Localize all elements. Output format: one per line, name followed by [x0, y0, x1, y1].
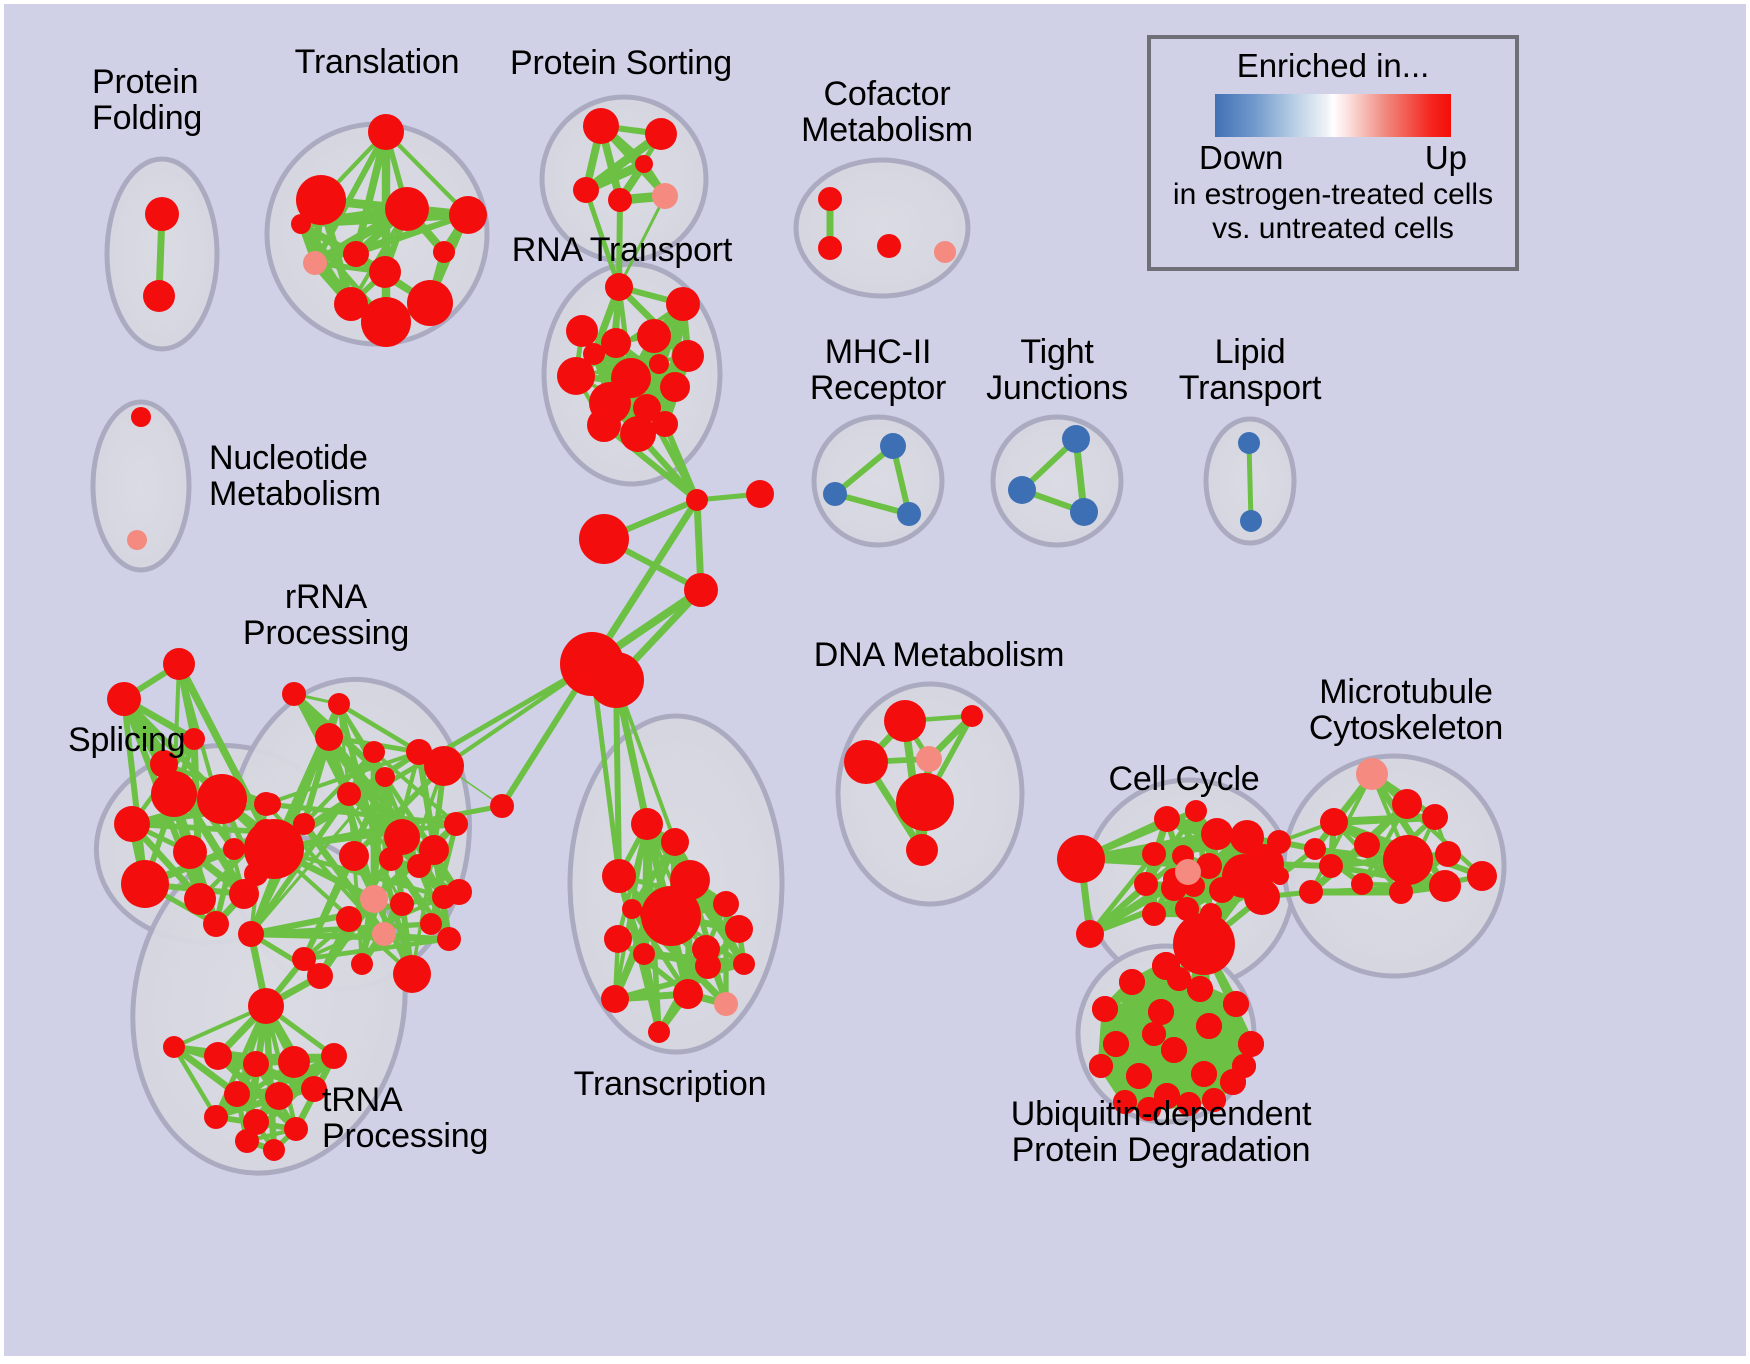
network-node[interactable]: [635, 155, 653, 173]
network-node[interactable]: [107, 682, 141, 716]
network-node[interactable]: [114, 806, 150, 842]
network-node[interactable]: [1103, 1031, 1129, 1057]
network-node[interactable]: [243, 1051, 269, 1077]
network-node[interactable]: [906, 834, 938, 866]
network-node[interactable]: [224, 1081, 250, 1107]
network-node[interactable]: [877, 234, 901, 258]
cluster-label-lipid-transport: Lipid Transport: [1179, 334, 1321, 406]
network-node[interactable]: [143, 280, 175, 312]
cluster-label-dna-metabolism: DNA Metabolism: [814, 637, 1064, 673]
network-node[interactable]: [1092, 996, 1118, 1022]
network-node[interactable]: [303, 251, 327, 275]
network-node[interactable]: [368, 114, 404, 150]
network-node[interactable]: [446, 879, 472, 905]
network-node[interactable]: [1223, 991, 1249, 1017]
legend-caption-line1: in estrogen-treated cells: [1173, 178, 1493, 212]
network-node[interactable]: [1057, 835, 1105, 883]
legend-low-label: Down: [1199, 139, 1283, 177]
network-node[interactable]: [673, 979, 703, 1009]
network-node[interactable]: [897, 502, 921, 526]
network-node[interactable]: [1320, 808, 1348, 836]
network-node[interactable]: [379, 847, 403, 871]
network-node[interactable]: [588, 652, 644, 708]
cluster-label-cell-cycle: Cell Cycle: [1108, 761, 1259, 797]
network-node[interactable]: [1175, 859, 1201, 885]
network-node[interactable]: [1354, 832, 1380, 858]
network-node[interactable]: [1238, 1031, 1264, 1057]
network-node[interactable]: [1319, 854, 1343, 878]
network-figure: Protein FoldingTranslationProtein Sortin…: [0, 0, 1750, 1360]
network-node[interactable]: [1422, 804, 1448, 830]
network-node[interactable]: [424, 746, 464, 786]
network-node[interactable]: [713, 891, 739, 917]
network-node[interactable]: [666, 287, 700, 321]
network-node[interactable]: [248, 988, 284, 1024]
network-node[interactable]: [151, 771, 197, 817]
network-node[interactable]: [645, 118, 677, 150]
network-node[interactable]: [1467, 861, 1497, 891]
network-node[interactable]: [844, 740, 888, 784]
legend-title: Enriched in...: [1237, 47, 1430, 85]
network-node[interactable]: [1161, 1037, 1187, 1063]
network-node[interactable]: [419, 835, 449, 865]
network-node[interactable]: [284, 1117, 308, 1141]
network-node[interactable]: [145, 197, 179, 231]
network-node[interactable]: [437, 927, 461, 951]
network-node[interactable]: [328, 693, 350, 715]
network-node[interactable]: [163, 1036, 185, 1058]
network-node[interactable]: [1356, 758, 1388, 790]
cluster-label-rna-transport: RNA Transport: [512, 232, 732, 268]
network-node[interactable]: [1196, 1013, 1222, 1039]
cluster-label-tight-junctions: Tight Junctions: [986, 334, 1128, 406]
network-node[interactable]: [725, 915, 753, 943]
network-node[interactable]: [880, 433, 906, 459]
cluster-label-protein-sorting: Protein Sorting: [510, 45, 732, 81]
network-node[interactable]: [1429, 870, 1461, 902]
legend-end-labels: Down Up: [1199, 139, 1467, 177]
network-node[interactable]: [608, 188, 632, 212]
network-node[interactable]: [278, 1046, 310, 1078]
network-node[interactable]: [204, 1042, 232, 1070]
network-node[interactable]: [746, 480, 774, 508]
network-node[interactable]: [1154, 806, 1180, 832]
network-node[interactable]: [363, 741, 385, 763]
network-node[interactable]: [420, 913, 442, 935]
network-node[interactable]: [263, 1139, 285, 1161]
network-node[interactable]: [1238, 432, 1260, 454]
network-node[interactable]: [1191, 1061, 1217, 1087]
network-node[interactable]: [1062, 425, 1090, 453]
network-node[interactable]: [649, 354, 669, 374]
network-node[interactable]: [449, 196, 487, 234]
network-node[interactable]: [184, 883, 216, 915]
legend-box: Enriched in... Down Up in estrogen-treat…: [1147, 35, 1519, 271]
network-node[interactable]: [633, 943, 655, 965]
network-node[interactable]: [604, 925, 632, 953]
network-node[interactable]: [1435, 841, 1461, 867]
network-node[interactable]: [223, 838, 245, 860]
cluster-label-mhc-ii-receptor: MHC-II Receptor: [810, 334, 946, 406]
network-node[interactable]: [896, 773, 954, 831]
network-node[interactable]: [823, 482, 847, 506]
network-node[interactable]: [884, 700, 926, 742]
network-node[interactable]: [652, 183, 678, 209]
network-node[interactable]: [163, 648, 195, 680]
network-node[interactable]: [601, 985, 629, 1013]
cluster-label-trna-processing: tRNA Processing: [322, 1082, 488, 1154]
network-node[interactable]: [1142, 902, 1166, 926]
network-node[interactable]: [265, 1082, 293, 1110]
network-node[interactable]: [1383, 835, 1433, 885]
network-node[interactable]: [351, 953, 373, 975]
cluster-label-translation: Translation: [295, 44, 460, 80]
network-node[interactable]: [660, 372, 690, 402]
cluster-label-nucleotide-metabolism: Nucleotide Metabolism: [209, 440, 381, 512]
network-node[interactable]: [369, 256, 401, 288]
network-node[interactable]: [1271, 867, 1289, 885]
network-node[interactable]: [1126, 1063, 1152, 1089]
network-node[interactable]: [385, 187, 429, 231]
network-node[interactable]: [637, 319, 671, 353]
network-node[interactable]: [583, 108, 619, 144]
cluster-label-cofactor-metabolism: Cofactor Metabolism: [801, 76, 973, 148]
network-node[interactable]: [1173, 913, 1235, 975]
network-node[interactable]: [375, 767, 395, 787]
network-node[interactable]: [934, 241, 956, 263]
network-node[interactable]: [1304, 838, 1326, 860]
network-node[interactable]: [121, 860, 169, 908]
network-node[interactable]: [1008, 476, 1036, 504]
network-node[interactable]: [1142, 842, 1166, 866]
network-node[interactable]: [131, 407, 151, 427]
cluster-hull-cofactor-metabolism: [796, 160, 968, 296]
network-node[interactable]: [818, 236, 842, 260]
cluster-hull-mhc-ii-receptor: [814, 417, 942, 545]
network-node[interactable]: [393, 955, 431, 993]
network-node[interactable]: [390, 892, 414, 916]
network-node[interactable]: [695, 953, 721, 979]
legend-gradient-bar: [1215, 94, 1451, 137]
network-node[interactable]: [1389, 880, 1413, 904]
cluster-label-ubiquitin-protein-degradation: Ubiquitin-dependent Protein Degradation: [1011, 1096, 1312, 1168]
network-node[interactable]: [315, 723, 343, 751]
network-node[interactable]: [1142, 1022, 1166, 1046]
network-node[interactable]: [579, 514, 629, 564]
network-node[interactable]: [583, 343, 605, 365]
network-node[interactable]: [566, 315, 598, 347]
network-node[interactable]: [292, 947, 316, 971]
network-node[interactable]: [336, 906, 362, 932]
legend-high-label: Up: [1425, 139, 1467, 177]
cluster-label-splicing: Splicing: [68, 722, 185, 758]
cluster-label-protein-folding: Protein Folding: [92, 64, 202, 136]
network-node[interactable]: [360, 885, 388, 913]
network-node[interactable]: [321, 1043, 347, 1069]
network-node[interactable]: [916, 746, 942, 772]
network-node[interactable]: [602, 859, 636, 893]
legend-caption-line2: vs. untreated cells: [1173, 212, 1493, 246]
network-node[interactable]: [291, 214, 311, 234]
network-node[interactable]: [1392, 789, 1422, 819]
network-node[interactable]: [282, 682, 306, 706]
network-node[interactable]: [183, 728, 205, 750]
network-node[interactable]: [672, 340, 704, 372]
network-node[interactable]: [1148, 999, 1174, 1025]
network-node[interactable]: [961, 705, 983, 727]
network-node[interactable]: [254, 792, 278, 816]
network-node[interactable]: [490, 794, 514, 818]
cluster-label-transcription: Transcription: [574, 1066, 767, 1102]
network-node[interactable]: [444, 812, 468, 836]
network-node[interactable]: [1185, 800, 1207, 822]
cluster-label-microtubule-cytoskeleton: Microtubule Cytoskeleton: [1309, 674, 1503, 746]
network-node[interactable]: [361, 297, 411, 347]
network-node[interactable]: [1167, 967, 1191, 991]
network-node[interactable]: [573, 177, 599, 203]
cluster-label-rrna-processing: rRNA Processing: [243, 579, 409, 651]
network-node[interactable]: [372, 922, 396, 946]
network-node[interactable]: [1232, 1054, 1256, 1078]
network-node[interactable]: [620, 416, 656, 452]
network-node[interactable]: [1134, 872, 1158, 896]
network-node[interactable]: [244, 819, 304, 879]
network-node[interactable]: [661, 828, 689, 856]
network-node[interactable]: [433, 241, 455, 263]
network-node[interactable]: [1070, 498, 1098, 526]
network-node[interactable]: [1076, 920, 1104, 948]
network-node[interactable]: [203, 911, 229, 937]
network-node[interactable]: [1209, 877, 1235, 903]
network-edge: [1334, 817, 1435, 822]
network-node[interactable]: [622, 899, 642, 919]
network-node[interactable]: [601, 328, 631, 358]
network-node[interactable]: [1351, 873, 1373, 895]
network-node[interactable]: [648, 1021, 670, 1043]
network-node[interactable]: [1201, 818, 1233, 850]
network-node[interactable]: [684, 573, 718, 607]
network-node[interactable]: [686, 489, 708, 511]
network-node[interactable]: [197, 774, 247, 824]
network-node[interactable]: [127, 530, 147, 550]
network-node[interactable]: [204, 1105, 228, 1129]
network-node[interactable]: [337, 782, 361, 806]
network-node[interactable]: [641, 886, 701, 946]
network-node[interactable]: [1244, 879, 1280, 915]
network-node[interactable]: [1089, 1054, 1113, 1078]
network-node[interactable]: [343, 241, 369, 267]
network-node[interactable]: [339, 841, 369, 871]
network-node[interactable]: [818, 187, 842, 211]
network-node[interactable]: [605, 273, 633, 301]
network-edge: [1249, 443, 1251, 521]
network-node[interactable]: [1299, 880, 1323, 904]
network-node[interactable]: [235, 1129, 259, 1153]
network-node[interactable]: [1240, 510, 1262, 532]
network-node[interactable]: [173, 835, 207, 869]
network-node[interactable]: [733, 953, 755, 975]
network-node[interactable]: [407, 280, 453, 326]
network-node[interactable]: [1119, 969, 1145, 995]
network-node[interactable]: [714, 992, 738, 1016]
network-node[interactable]: [631, 808, 663, 840]
network-node[interactable]: [238, 921, 264, 947]
network-node[interactable]: [587, 408, 621, 442]
